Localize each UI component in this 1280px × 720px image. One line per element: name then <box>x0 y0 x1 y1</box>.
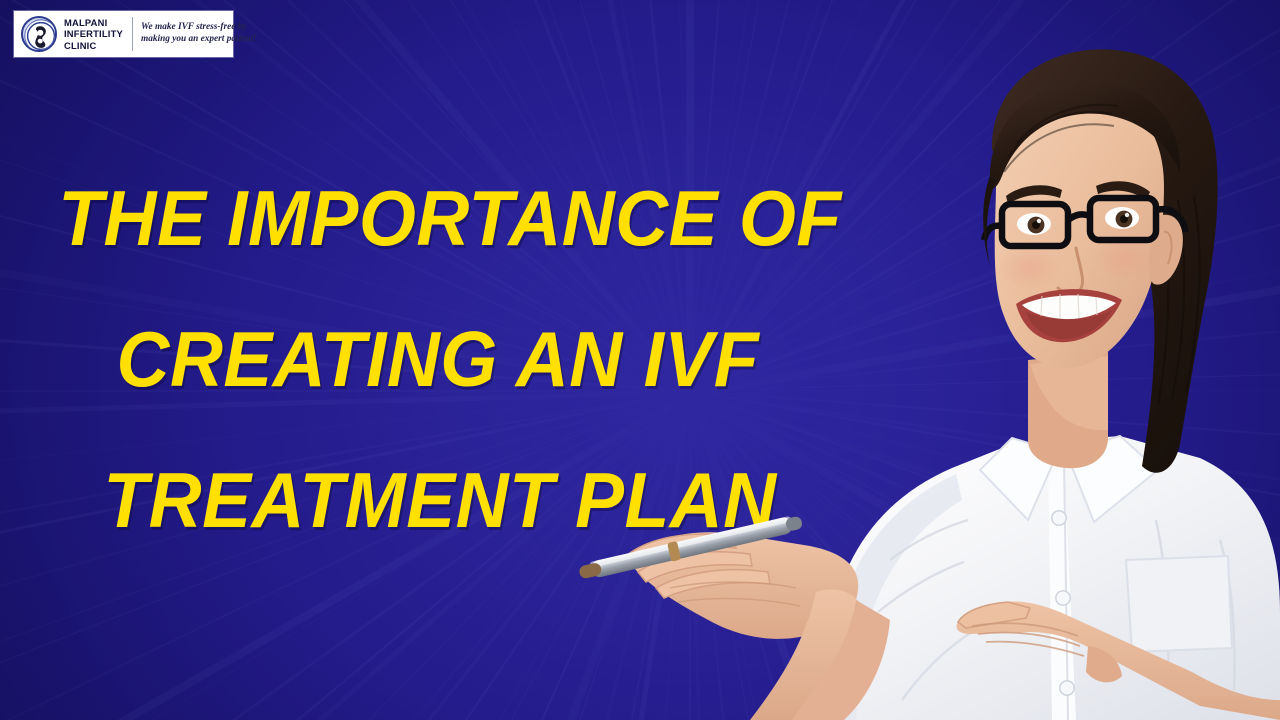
headline-line-2: CREATING AN IVF <box>0 289 827 430</box>
logo-name-line-2: INFERTILITY <box>64 28 123 39</box>
clinic-tagline: We make IVF stress-free by making you an… <box>141 22 257 45</box>
headline-block: THE IMPORTANCE OF CREATING AN IVF TREATM… <box>0 148 880 571</box>
tagline-line-1: We make IVF stress-free by <box>141 22 257 34</box>
thumbnail-canvas: MALPANI INFERTILITY CLINIC We make IVF s… <box>0 0 1280 720</box>
logo-name-line-1: MALPANI <box>64 17 123 28</box>
clinic-logo: MALPANI INFERTILITY CLINIC We make IVF s… <box>14 11 233 57</box>
logo-name-line-3: CLINIC <box>64 40 123 51</box>
headline-line-1: THE IMPORTANCE OF <box>0 148 827 289</box>
headline-line-3: TREATMENT PLAN <box>0 430 827 571</box>
logo-divider <box>132 17 133 51</box>
clinic-embryo-emblem-icon <box>21 16 57 52</box>
clinic-logo-name: MALPANI INFERTILITY CLINIC <box>64 17 123 51</box>
tagline-line-2: making you an expert patient! <box>141 34 257 46</box>
